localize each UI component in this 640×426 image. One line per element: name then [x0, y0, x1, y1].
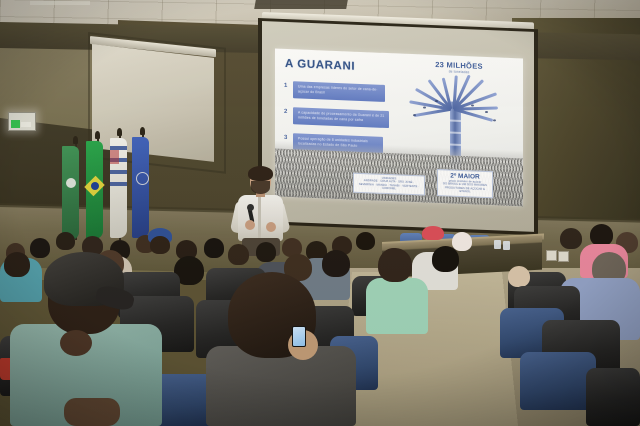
foreground-person-arm: [64, 398, 120, 426]
audience-cap: [422, 226, 444, 240]
audience-head: [322, 250, 350, 277]
slide-bullet-1: 1 Uma das empresas líderes do setor de c…: [293, 81, 385, 102]
flag-green-institutional: [62, 146, 79, 240]
flag-blue-institutional: [132, 137, 149, 238]
audience-head: [560, 228, 582, 249]
slide-bullet-2: 2 A capacidade de processamento da Guara…: [293, 107, 389, 128]
slide-callout-rank: 2º MAIOR grupo produtor de açúcar DO BRA…: [437, 169, 493, 199]
presenter-beard: [251, 181, 270, 194]
microphone-head: [247, 204, 254, 211]
audience-head: [30, 238, 50, 258]
audience-head: [590, 224, 613, 246]
wall-outlet: [558, 251, 569, 262]
presentation-slide: A GUARANI 1 Uma das empresas líderes do …: [275, 49, 523, 207]
audience-head: [432, 246, 459, 272]
slide-title: A GUARANI: [285, 58, 355, 73]
exit-sign-text-glyph: [21, 122, 31, 127]
slide-bullet-2-number: 2: [284, 109, 287, 115]
audience-head: [56, 232, 75, 250]
presenter-hair: [248, 166, 273, 181]
wall-outlet: [546, 250, 557, 261]
presenter: [232, 168, 288, 254]
foreground-person-neck: [60, 330, 92, 356]
audience-head: [356, 232, 375, 250]
audience-head: [4, 252, 30, 277]
audience-head: [452, 232, 472, 251]
audience-head: [378, 248, 412, 282]
slide-callout-rank-text: DO BRASIL E UM DOS MAIORES PRODUTORES DE…: [440, 182, 490, 195]
audience-head: [256, 242, 276, 262]
foreground-phone-user-torso: [206, 346, 356, 426]
slide-bullet-1-text: Uma das empresas líderes do setor de can…: [298, 84, 381, 97]
exit-sign-green-glyph: [11, 120, 20, 128]
seat-chair: [586, 368, 640, 426]
audience-head: [150, 236, 170, 254]
exit-sign: [8, 112, 36, 131]
presenter-right-hand: [266, 222, 276, 232]
presenter-shirt-placket: [258, 196, 261, 240]
main-projection-screen: A GUARANI 1 Uma das empresas líderes do …: [262, 21, 534, 232]
audience-head: [228, 244, 249, 265]
ceiling-lamp: [30, 1, 90, 5]
water-bottle: [494, 240, 501, 249]
slide-callout-units-text: ANDRADE · CRUZ ALTA · SÃO JOSÉ · SEVERÍN…: [356, 179, 422, 192]
auditorium-photo: A GUARANI 1 Uma das empresas líderes do …: [0, 0, 640, 426]
slide-bullet-1-number: 1: [284, 83, 287, 89]
water-bottle: [503, 241, 510, 250]
presenter-left-hand: [245, 220, 255, 230]
audience-torso: [366, 278, 428, 334]
audience-hand: [508, 266, 530, 287]
slide-bullet-2-text: A capacidade de processamento da Guarani…: [298, 110, 385, 123]
audience-head: [204, 238, 224, 258]
smartphone: [292, 326, 306, 347]
slide-callout-units: UNIDADES ANDRADE · CRUZ ALTA · SÃO JOSÉ …: [353, 172, 425, 195]
ceiling-vent: [254, 0, 348, 9]
seat-chair: [520, 352, 596, 410]
